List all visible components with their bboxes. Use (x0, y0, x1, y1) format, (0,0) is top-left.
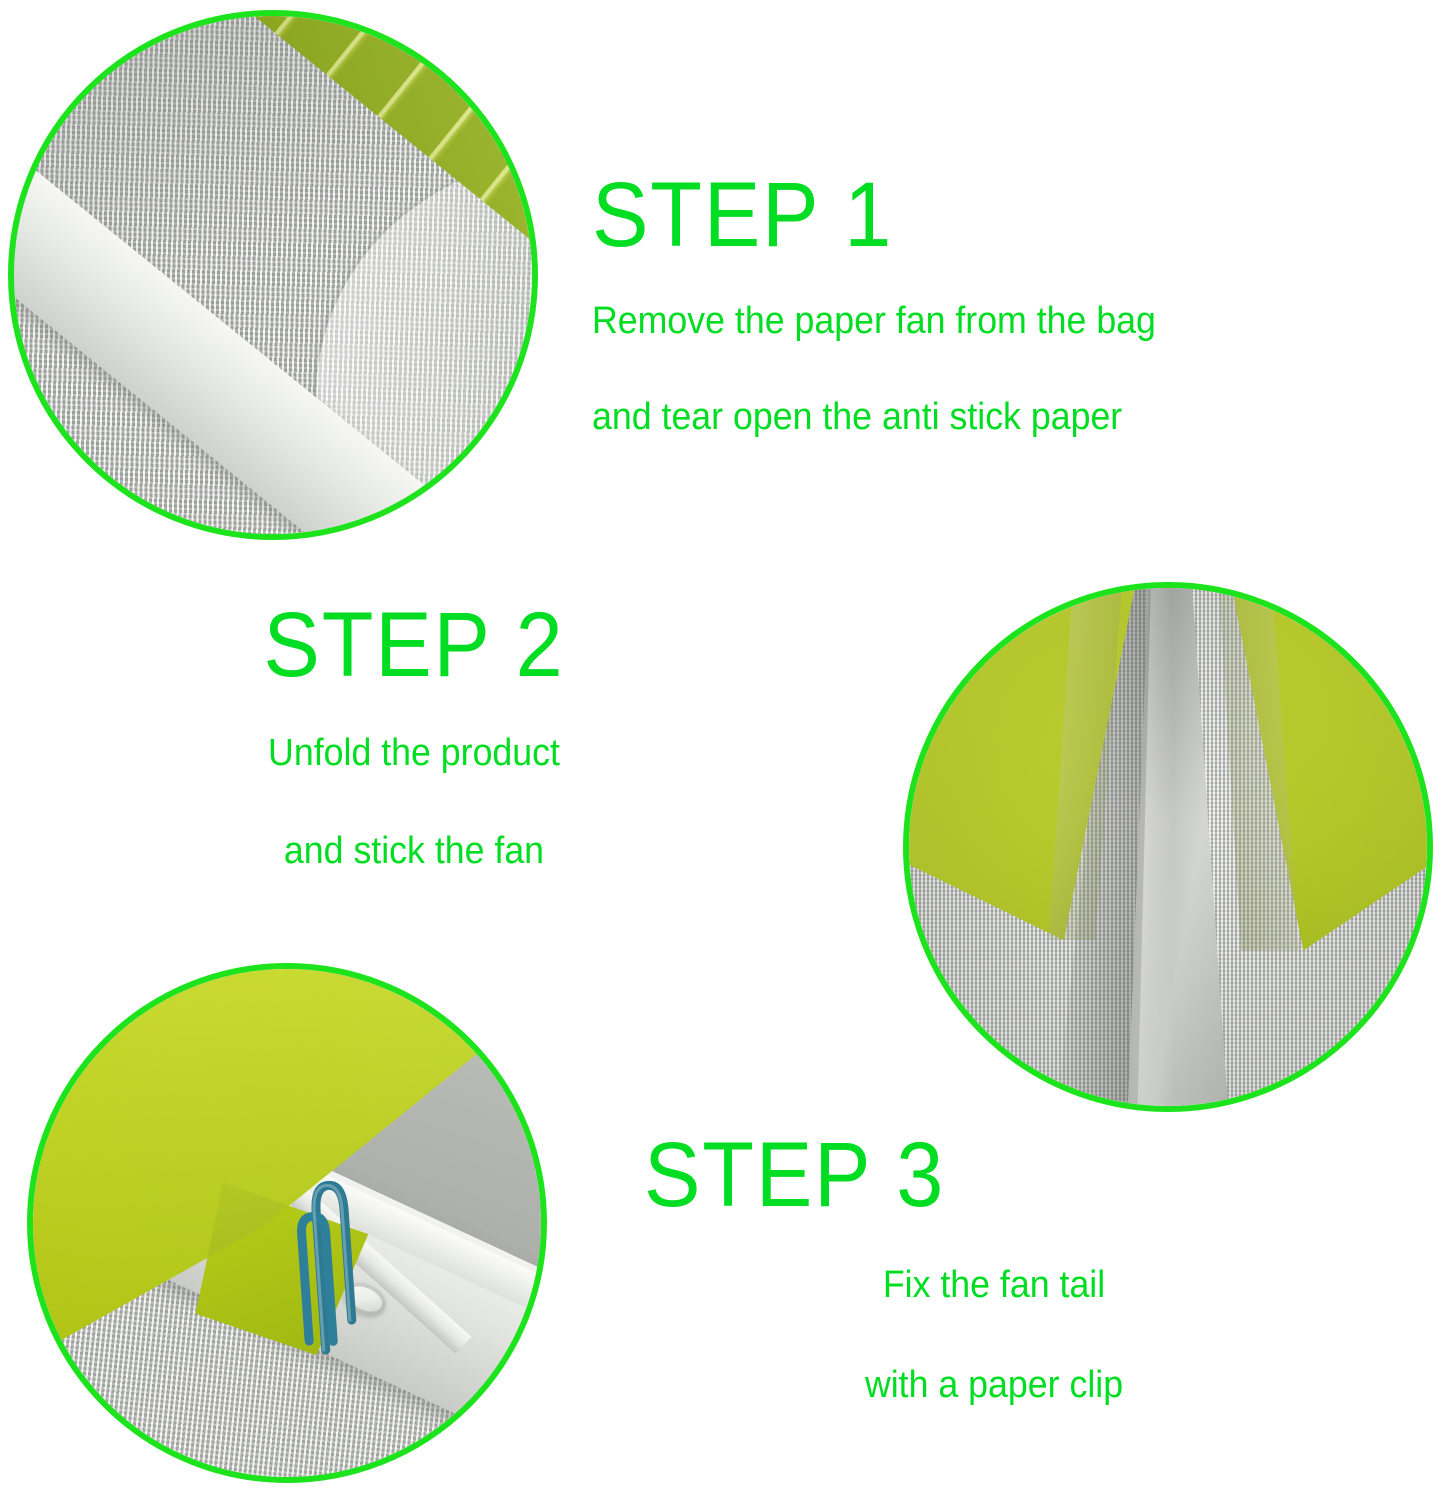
step-1-line-2: and tear open the anti stick paper (592, 384, 1156, 452)
step-3-text-block: STEP 3 Fix the fan tail with a paper cli… (644, 1130, 1344, 1419)
photo-step-3-inner (33, 969, 541, 1477)
step-1-text-block: STEP 1 Remove the paper fan from the bag… (592, 170, 1192, 451)
instruction-graphic: STEP 1 Remove the paper fan from the bag… (0, 0, 1437, 1500)
photo-step-3 (27, 963, 547, 1483)
step-3-line-2: with a paper clip (665, 1352, 1323, 1420)
step-1-line-1: Remove the paper fan from the bag (592, 288, 1156, 356)
photo-step-1 (8, 10, 538, 540)
step-3-title: STEP 3 (644, 1130, 1288, 1220)
photo-step-2-inner (909, 588, 1427, 1106)
photo-step-1-inner (14, 16, 532, 534)
step-2-text-block: STEP 2 Unfold the product and stick the … (84, 600, 744, 885)
photo-vignette (909, 588, 1427, 1106)
step-2-title: STEP 2 (110, 600, 717, 690)
step-2-line-2: and stick the fan (104, 818, 724, 886)
photo-step-2 (903, 582, 1433, 1112)
paper-clip-icon (283, 1170, 360, 1364)
step-2-line-1: Unfold the product (104, 720, 724, 788)
step-1-title: STEP 1 (592, 170, 1144, 260)
step-3-line-1: Fix the fan tail (665, 1252, 1323, 1320)
